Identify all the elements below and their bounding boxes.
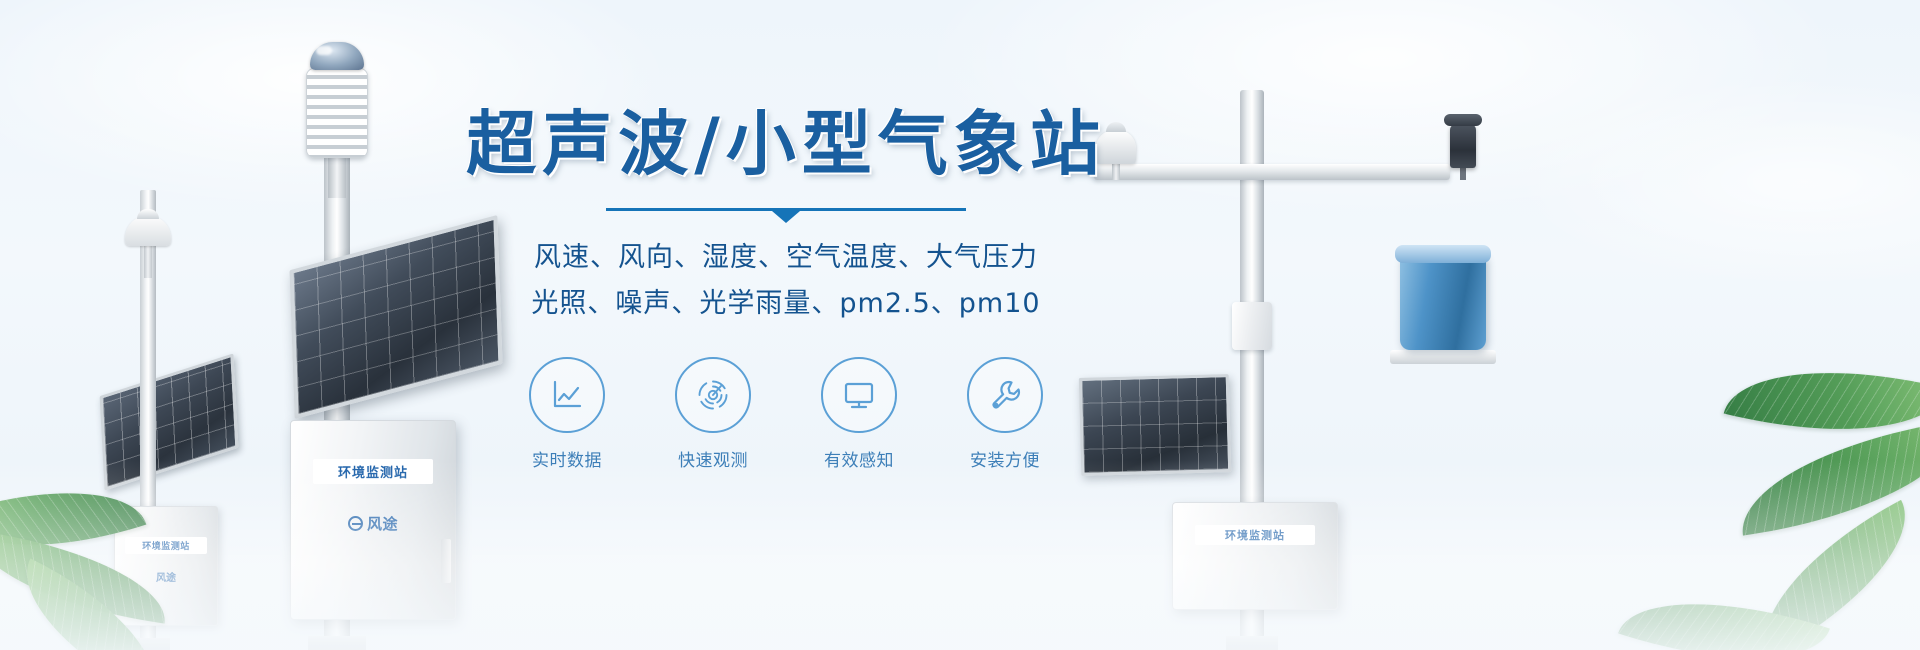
feature-item-effective-sensing[interactable]: 有效感知 [817,357,901,471]
feature-item-realtime-data[interactable]: 实时数据 [525,357,609,471]
divider-rule [606,208,966,211]
subtitle-line-1: 风速、风向、湿度、空气温度、大气压力 [446,235,1126,281]
cross-arm-right [1094,164,1450,180]
feature-label: 快速观测 [671,446,755,471]
feature-label: 安装方便 [963,446,1047,471]
rain-gauge-right [1400,254,1486,350]
cabinet-door-latch-center [441,539,451,583]
brand-mark-icon [348,516,363,531]
weather-station-right: 环境监测站 [1080,50,1500,650]
subtitle-line-2: 光照、噪声、光学雨量、pm2.5、pm10 [446,281,1126,327]
radiation-shield-sensor-left [125,216,171,246]
cabinet-label-center: 环境监测站 [313,459,433,484]
monitor-icon [821,357,897,433]
radar-scan-icon [675,357,751,433]
line-chart-icon [529,357,605,433]
product-banner: 环境监测站 风途 环境监测站 风途 环境监测站 [0,0,1920,650]
sensor-stem-left [144,242,152,278]
cabinet-label-right: 环境监测站 [1195,525,1315,545]
sensor-stem-center [328,154,346,198]
control-cabinet-right: 环境监测站 [1172,502,1338,610]
solar-panel-left [100,353,239,490]
camera-sensor-right [1450,124,1476,168]
feature-item-easy-installation[interactable]: 安装方便 [963,357,1047,471]
divider-triangle-icon [772,211,800,223]
feature-list: 实时数据 快速观测 [446,357,1126,471]
brand-text-center: 风途 [367,516,398,533]
control-cabinet-center: 环境监测站 风途 [290,420,456,620]
banner-subtitles: 风速、风向、湿度、空气温度、大气压力 光照、噪声、光学雨量、pm2.5、pm10 [446,235,1126,328]
base-plate-center [308,636,366,650]
radiation-shield-center [306,68,368,158]
rain-gauge-base-right [1390,350,1496,364]
feature-label: 实时数据 [525,446,609,471]
wrench-icon [967,357,1043,433]
cabinet-label-left: 环境监测站 [125,537,207,554]
brand-logo-center: 风途 [291,513,455,534]
camera-stem-right [1460,166,1466,180]
banner-headline: 超声波/小型气象站 [446,108,1126,182]
feature-label: 有效感知 [817,446,901,471]
banner-content: 超声波/小型气象站 风速、风向、湿度、空气温度、大气压力 光照、噪声、光学雨量、… [446,108,1126,471]
pole-clamp-right [1232,302,1272,350]
ultrasonic-dome-sensor-center [310,42,364,70]
base-plate-right [1226,636,1278,650]
feature-item-fast-observation[interactable]: 快速观测 [671,357,755,471]
